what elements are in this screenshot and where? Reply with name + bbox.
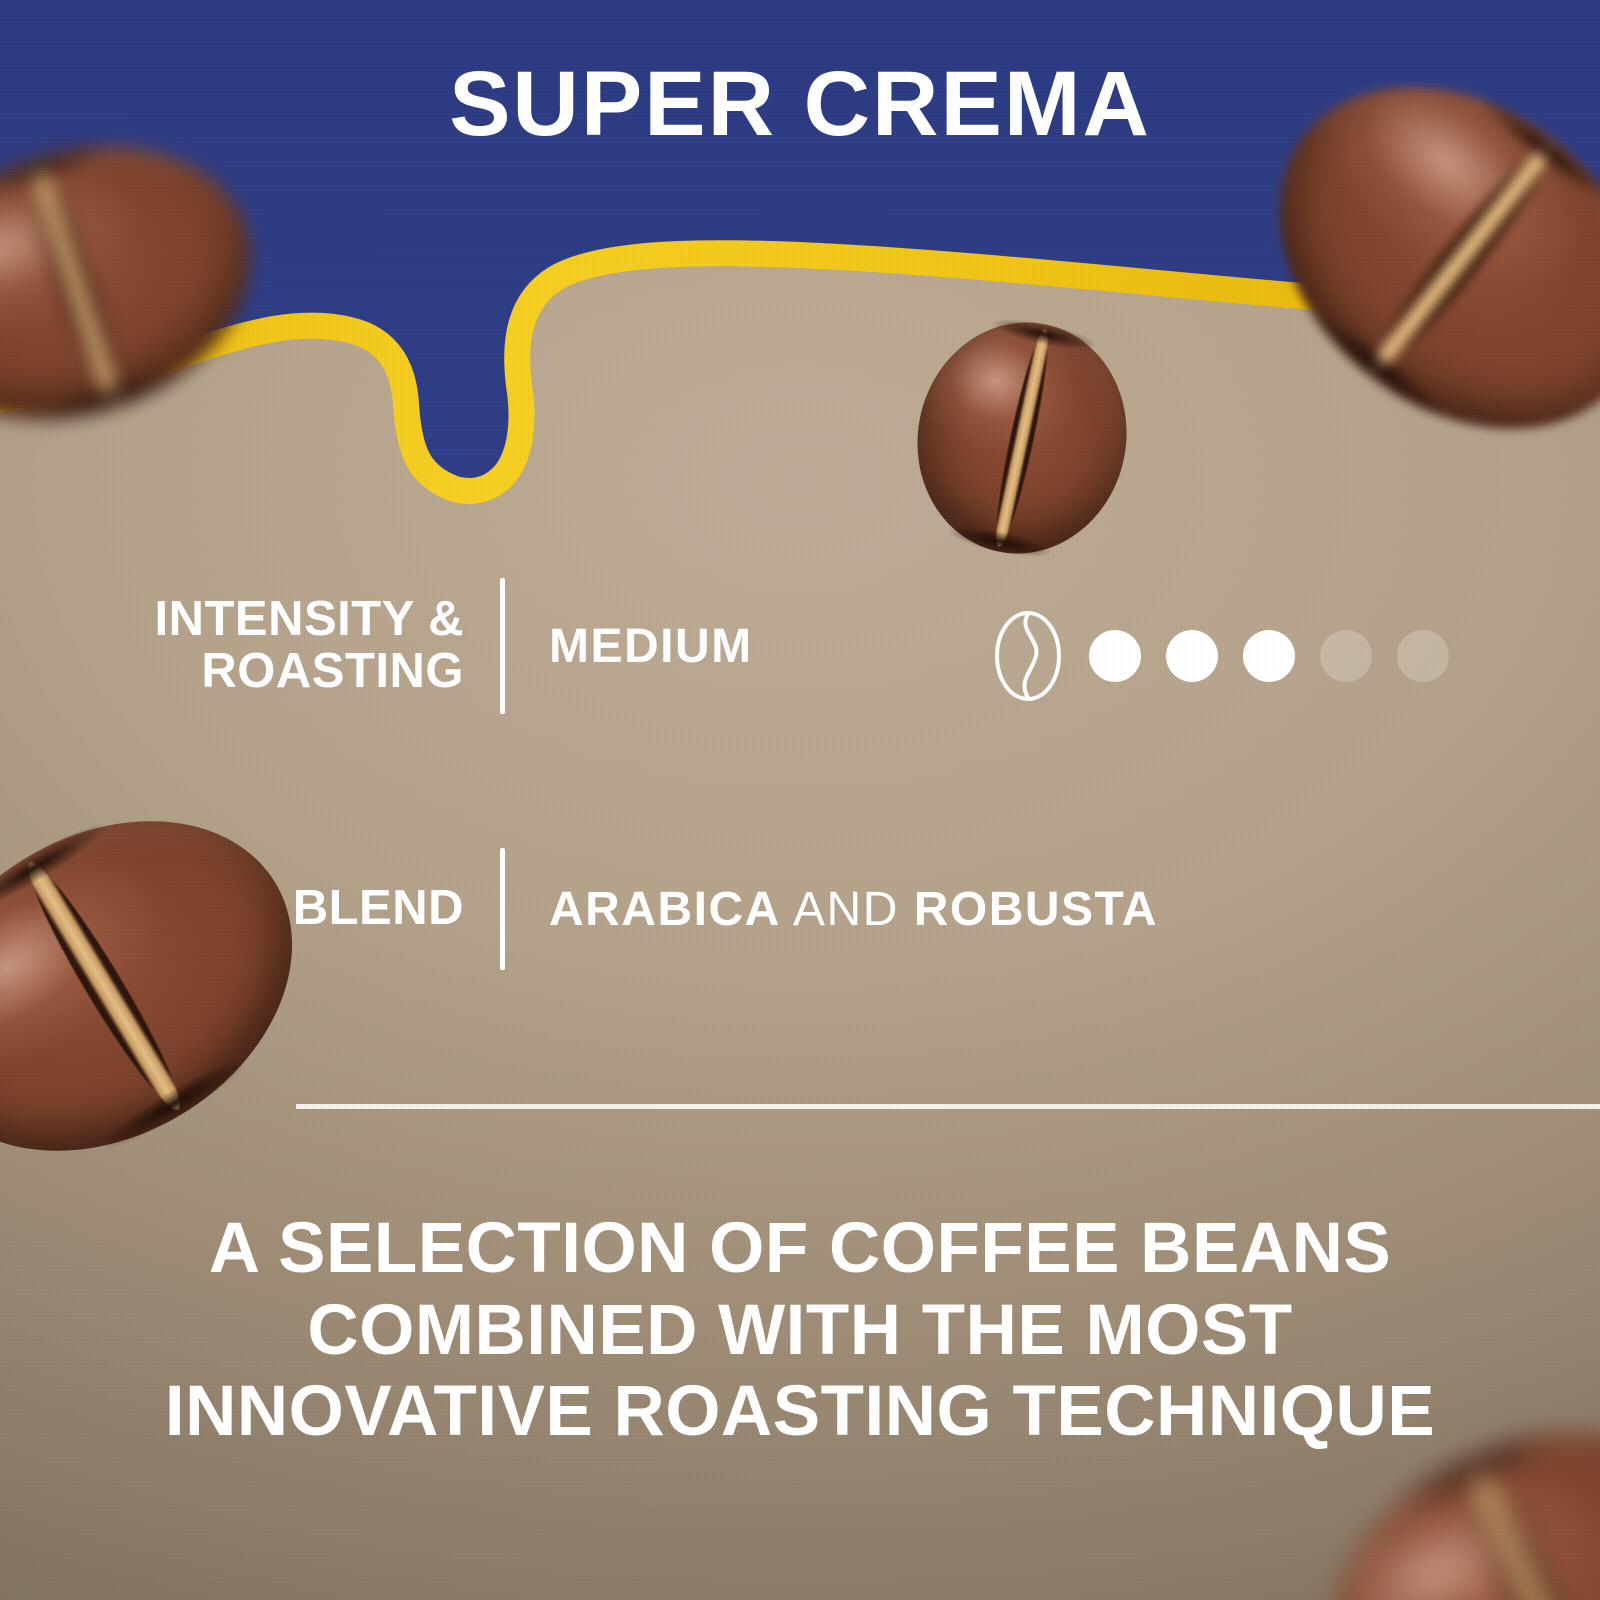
intensity-dot-3: [1243, 630, 1295, 682]
spec-label-blend: BLEND: [120, 883, 500, 935]
tagline-line-3: INNOVATIVE ROASTING TECHNIQUE: [60, 1371, 1540, 1453]
spec-value-blend: ARABICA AND ROBUSTA: [505, 882, 1158, 937]
intensity-dot-4: [1320, 630, 1372, 682]
intensity-meter: [992, 608, 1449, 704]
coffee-bean-icon: [992, 608, 1064, 704]
intensity-dot-5: [1397, 630, 1449, 682]
spec-label-intensity-line2: ROASTING: [120, 646, 464, 698]
tagline-line-1: A SELECTION OF COFFEE BEANS: [60, 1208, 1540, 1290]
blend-conjunction: AND: [781, 883, 914, 936]
spec-label-intensity-line1: INTENSITY &: [120, 594, 464, 646]
intensity-dot-2: [1166, 630, 1218, 682]
spec-row-intensity: INTENSITY & ROASTING MEDIUM: [120, 578, 753, 714]
product-infographic: SUPER CREMA INTENSITY & ROASTING MEDIUM …: [0, 0, 1600, 1600]
intensity-dot-1: [1089, 630, 1141, 682]
spec-value-intensity: MEDIUM: [505, 619, 753, 674]
blend-arabica: ARABICA: [549, 883, 781, 936]
product-title: SUPER CREMA: [0, 58, 1600, 150]
spec-row-blend: BLEND ARABICA AND ROBUSTA: [120, 848, 1158, 970]
section-divider: [296, 1104, 1600, 1109]
tagline: A SELECTION OF COFFEE BEANS COMBINED WIT…: [60, 1208, 1540, 1453]
blend-robusta: ROBUSTA: [914, 883, 1158, 936]
spec-label-intensity: INTENSITY & ROASTING: [120, 594, 500, 698]
tagline-line-2: COMBINED WITH THE MOST: [60, 1290, 1540, 1372]
